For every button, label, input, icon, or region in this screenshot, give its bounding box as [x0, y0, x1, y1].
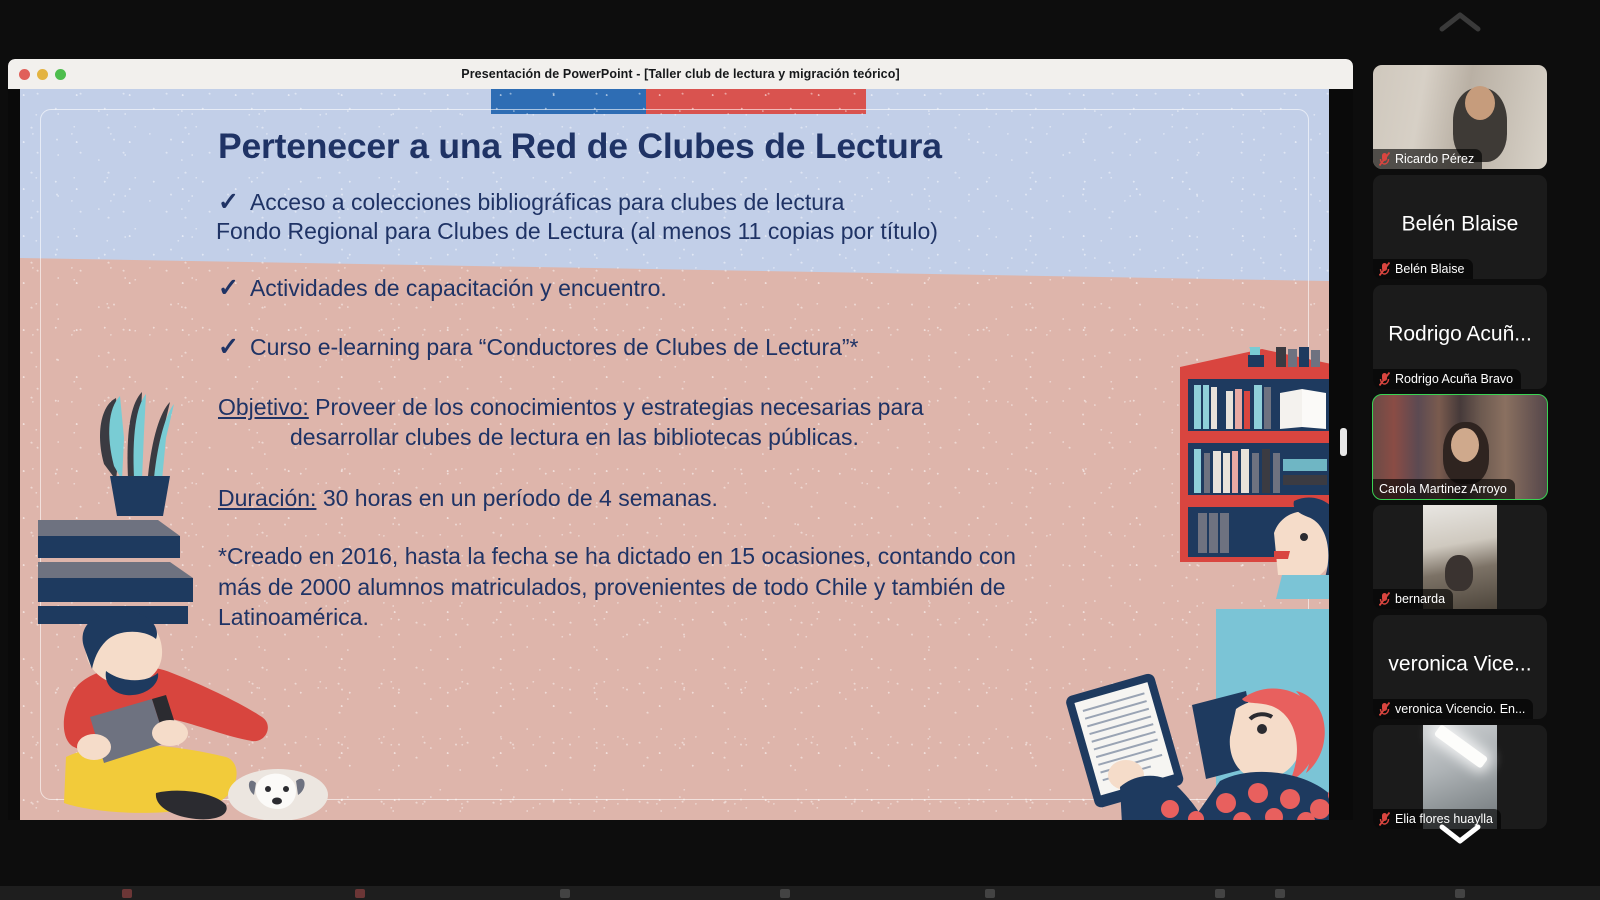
participant-name: veronica Vicencio. En... [1395, 702, 1525, 716]
share-panel-drag-handle[interactable] [1340, 428, 1347, 456]
participant-namebar: bernarda [1373, 589, 1453, 609]
slide-objetivo-line2: desarrollar clubes de lectura en las bib… [290, 423, 1048, 453]
participant-tile-belen-blaise[interactable]: Belén Blaise Belén Blaise [1373, 175, 1547, 279]
participant-tile-carola-martinez-arroyo[interactable]: Carola Martinez Arroyo [1373, 395, 1547, 499]
slide-objetivo-label: Objetivo: [218, 394, 309, 420]
meeting-toolbar-strip [0, 886, 1600, 900]
participant-avatar-name: Belén Blaise [1373, 213, 1547, 237]
slide-bullet-3-text: Curso e-learning para “Conductores de Cl… [250, 333, 859, 362]
toolbar-leave-icon[interactable] [1455, 889, 1465, 898]
participant-namebar: Rodrigo Acuña Bravo [1373, 369, 1521, 389]
participant-namebar: Ricardo Pérez [1373, 149, 1482, 169]
slide-bullet-2: ✓ Actividades de capacitación y encuentr… [218, 274, 1048, 303]
toolbar-share-icon[interactable] [985, 889, 995, 898]
toolbar-participants-icon[interactable] [560, 889, 570, 898]
slide-content: Pertenecer a una Red de Clubes de Lectur… [218, 89, 1048, 633]
slide-footnote: *Creado en 2016, hasta la fecha se ha di… [218, 541, 1048, 632]
slide-bullet-1: ✓ Acceso a colecciones bibliográficas pa… [218, 188, 1048, 247]
participant-avatar-name: Rodrigo Acuñ... [1373, 323, 1547, 347]
woman-at-shelf-illustration [1268, 489, 1329, 599]
participant-name: bernarda [1395, 592, 1445, 606]
chevron-down-icon[interactable] [1438, 820, 1482, 846]
mic-muted-icon [1379, 262, 1390, 276]
mic-muted-icon [1379, 702, 1390, 716]
check-icon: ✓ [218, 333, 239, 362]
participant-tile-bernarda[interactable]: bernarda [1373, 505, 1547, 609]
chevron-up-icon[interactable] [1438, 9, 1482, 35]
slide-bullet-3: ✓ Curso e-learning para “Conductores de … [218, 333, 1048, 362]
slide-title: Pertenecer a una Red de Clubes de Lectur… [218, 127, 1048, 166]
participant-namebar: Belén Blaise [1373, 259, 1473, 279]
participant-name: Carola Martinez Arroyo [1379, 482, 1507, 496]
participant-tile-veronica-vicencio[interactable]: veronica Vice... veronica Vicencio. En..… [1373, 615, 1547, 719]
window-titlebar: Presentación de PowerPoint - [Taller clu… [8, 59, 1353, 89]
participant-tile-elia-flores-huaylla[interactable]: Elia flores huaylla [1373, 725, 1547, 829]
participant-namebar: Carola Martinez Arroyo [1373, 479, 1515, 499]
presentation-slide: Pertenecer a una Red de Clubes de Lectur… [20, 89, 1329, 820]
participant-name: Rodrigo Acuña Bravo [1395, 372, 1513, 386]
slide-duracion-text: 30 horas en un período de 4 semanas. [316, 485, 718, 511]
toolbar-chat-icon[interactable] [780, 889, 790, 898]
toolbar-video-icon[interactable] [355, 889, 365, 898]
slide-objetivo-block: Objetivo: Proveer de los conocimientos y… [218, 393, 1048, 453]
meeting-screen-share-view: Presentación de PowerPoint - [Taller clu… [0, 0, 1600, 900]
mic-muted-icon [1379, 812, 1390, 826]
participant-name: Belén Blaise [1395, 262, 1465, 276]
minimize-button[interactable] [37, 69, 48, 80]
participant-tile-rodrigo-acuna-bravo[interactable]: Rodrigo Acuñ... Rodrigo Acuña Bravo [1373, 285, 1547, 389]
window-traffic-lights [19, 69, 66, 80]
mic-muted-icon [1379, 152, 1390, 166]
slide-bullet-1-subtext: Fondo Regional para Clubes de Lectura (a… [216, 217, 938, 246]
participant-tiles: Ricardo Pérez Belén Blaise Belén Blaise … [1373, 65, 1549, 835]
toolbar-record-icon[interactable] [1215, 889, 1225, 898]
check-icon: ✓ [218, 188, 239, 217]
participant-avatar-name: veronica Vice... [1373, 653, 1547, 677]
toolbar-reactions-icon[interactable] [1275, 889, 1285, 898]
zoom-button[interactable] [55, 69, 66, 80]
participant-tile-ricardo-perez[interactable]: Ricardo Pérez [1373, 65, 1547, 169]
check-icon: ✓ [218, 274, 239, 303]
shared-screen-window: Presentación de PowerPoint - [Taller clu… [8, 59, 1353, 820]
toolbar-mic-icon[interactable] [122, 889, 132, 898]
mic-muted-icon [1379, 372, 1390, 386]
slide-duracion-block: Duración: 30 horas en un período de 4 se… [218, 484, 1048, 514]
dog-illustration [226, 761, 331, 820]
participant-namebar: veronica Vicencio. En... [1373, 699, 1533, 719]
woman-with-tablet-illustration [1050, 669, 1329, 820]
slide-bullet-1-text: Acceso a colecciones bibliográficas para… [250, 188, 938, 247]
slide-duracion-label: Duración: [218, 485, 316, 511]
participant-filmstrip: Ricardo Pérez Belén Blaise Belén Blaise … [1368, 0, 1552, 900]
slide-objetivo-line1: Proveer de los conocimientos y estrategi… [309, 394, 924, 420]
window-title: Presentación de PowerPoint - [Taller clu… [8, 67, 1353, 81]
participant-name: Ricardo Pérez [1395, 152, 1474, 166]
mic-muted-icon [1379, 592, 1390, 606]
close-button[interactable] [19, 69, 30, 80]
cactus-illustration [58, 384, 198, 529]
slide-bullet-2-text: Actividades de capacitación y encuentro. [250, 274, 667, 303]
